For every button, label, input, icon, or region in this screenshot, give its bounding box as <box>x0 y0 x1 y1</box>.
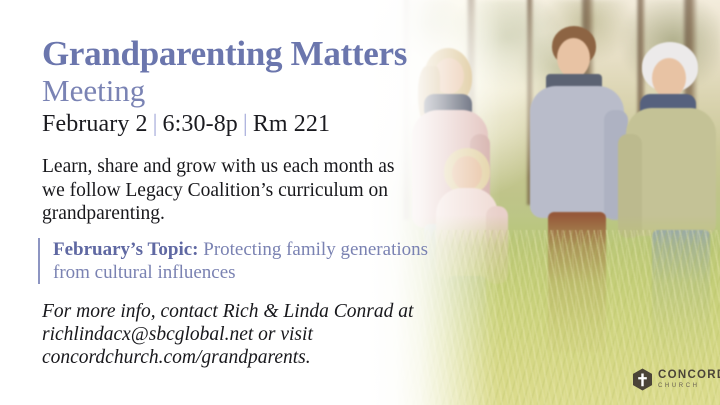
hexagon-cross-icon <box>632 368 653 391</box>
logo-wordmark: CONCORD CHURCH <box>658 370 720 390</box>
contact-info-text: For more info, contact Rich & Linda Conr… <box>42 300 452 369</box>
logo-subtitle: CHURCH <box>658 383 720 389</box>
monthly-topic-callout: February’s Topic: Protecting family gene… <box>38 238 438 284</box>
description-text: Learn, share and grow with us each month… <box>42 155 422 226</box>
topic-label: February’s Topic: <box>53 239 199 260</box>
page-title: Grandparenting Matters <box>42 36 407 72</box>
event-date: February 2 <box>42 111 148 137</box>
event-room: Rm 221 <box>253 111 330 137</box>
flyer-content: Grandparenting Matters Meeting February … <box>0 0 720 405</box>
detail-separator: | <box>148 111 163 137</box>
logo-name: CONCORD <box>658 370 720 382</box>
concord-church-logo: CONCORD CHURCH <box>632 368 720 391</box>
event-details-line: February 2|6:30-8p|Rm 221 <box>42 110 330 138</box>
detail-separator: | <box>238 111 253 137</box>
page-subtitle: Meeting <box>42 74 145 108</box>
grandparenting-matters-flyer: Grandparenting Matters Meeting February … <box>0 0 720 405</box>
event-time: 6:30-8p <box>163 111 238 137</box>
topic-line: February’s Topic: Protecting family gene… <box>53 238 438 284</box>
